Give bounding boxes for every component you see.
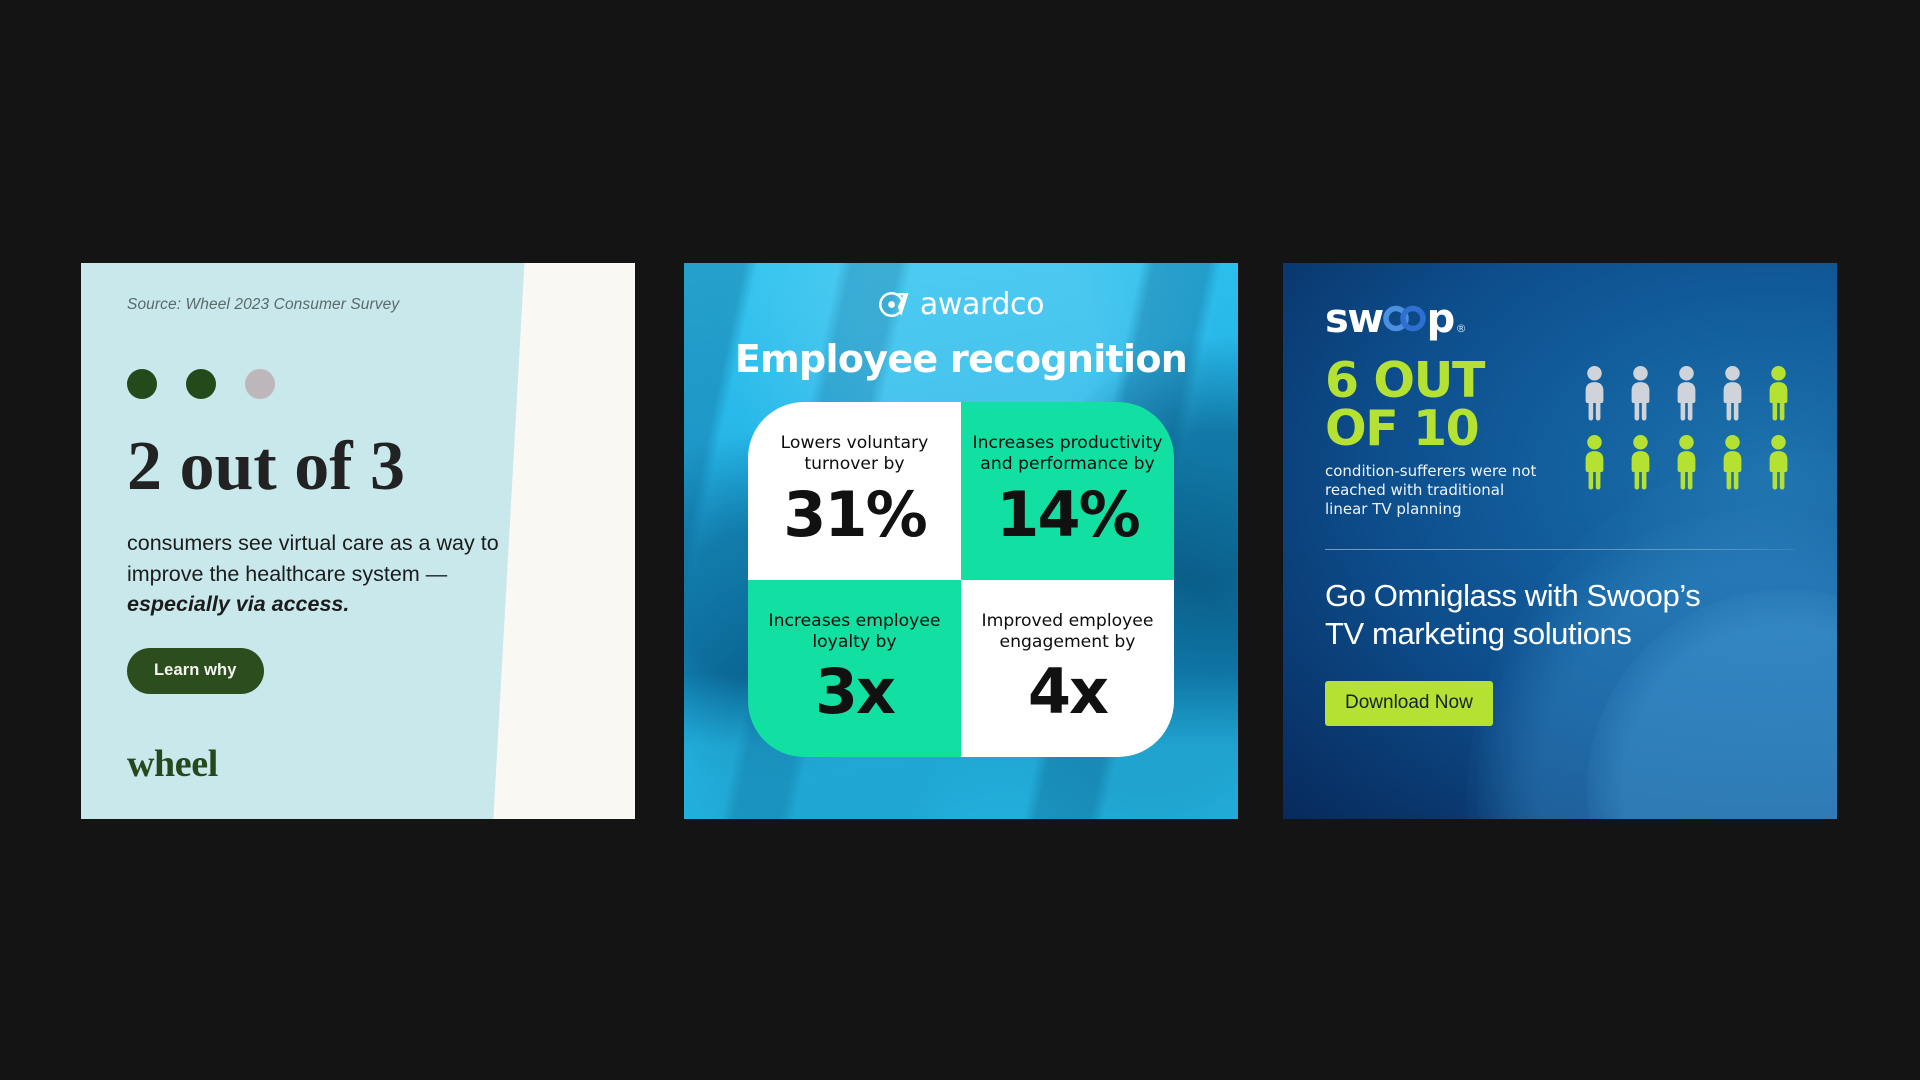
stat-value: 4x: [1028, 661, 1107, 723]
swoop-content: sw p ® 6 OUT OF 10 condition-sufferers w…: [1283, 263, 1837, 819]
stat-label: Improved employee engagement by: [971, 611, 1164, 653]
swoop-loop-icon: [1383, 302, 1427, 332]
subtext-line-2: reached with traditional: [1325, 481, 1504, 499]
dot-filled-2: [186, 369, 216, 399]
person-icon-gray: [1716, 365, 1749, 421]
stat-line-1: 6 OUT: [1325, 357, 1570, 405]
divider: [1325, 549, 1795, 550]
dot-empty-3: [245, 369, 275, 399]
stat-cell-productivity: Increases productivity and performance b…: [961, 402, 1174, 580]
headline-stat: 2 out of 3: [127, 432, 595, 502]
headline-line-2: TV marketing solutions: [1325, 616, 1632, 651]
stat-value: 3x: [815, 661, 894, 723]
swoop-headline: Go Omniglass with Swoop’s TV marketing s…: [1325, 577, 1795, 653]
card-swoop: sw p ® 6 OUT OF 10 condition-sufferers w…: [1283, 263, 1837, 819]
person-icon-green: [1624, 434, 1657, 490]
person-icon-green: [1670, 434, 1703, 490]
swoop-logo: sw p ®: [1325, 296, 1795, 340]
pictograph-row-2: [1570, 434, 1795, 490]
stat-label: Increases employee loyalty by: [758, 611, 951, 653]
stat-label: Increases productivity and performance b…: [971, 433, 1164, 475]
stat-subtext: condition-sufferers were not reached wit…: [1325, 462, 1570, 519]
stat-value: 14%: [996, 484, 1138, 546]
stat-value: 31%: [783, 484, 925, 546]
awardco-title: Employee recognition: [684, 337, 1238, 381]
person-icon-gray: [1670, 365, 1703, 421]
card-awardco: awardco Employee recognition Lowers volu…: [684, 263, 1238, 819]
person-icon-green: [1716, 434, 1749, 490]
person-icon-gray: [1578, 365, 1611, 421]
stat-cell-engagement: Improved employee engagement by 4x: [961, 580, 1174, 758]
stat-line-2: OF 10: [1325, 405, 1570, 453]
subtext-line-1: condition-sufferers were not: [1325, 462, 1536, 480]
body-copy: consumers see virtual care as a way to i…: [127, 528, 507, 620]
person-icon-green: [1578, 434, 1611, 490]
person-icon-gray: [1624, 365, 1657, 421]
swoop-logo-first: sw: [1325, 296, 1383, 342]
swoop-logo-last: p: [1427, 296, 1454, 342]
awardco-logo: awardco: [684, 285, 1238, 323]
stat-label: Lowers voluntary turnover by: [758, 433, 951, 475]
pictograph: [1570, 357, 1795, 519]
awardco-logo-text: awardco: [920, 287, 1044, 322]
body-line-1: consumers see virtual care as a way: [127, 531, 475, 555]
source-caption: Source: Wheel 2023 Consumer Survey: [127, 296, 595, 314]
person-icon-green: [1762, 434, 1795, 490]
stat-cell-turnover: Lowers voluntary turnover by 31%: [748, 402, 961, 580]
swoop-hero: 6 OUT OF 10 condition-sufferers were not…: [1325, 357, 1795, 519]
person-icon-green: [1762, 365, 1795, 421]
awardco-mark-icon: [878, 288, 911, 321]
wheel-content: Source: Wheel 2023 Consumer Survey 2 out…: [81, 263, 635, 819]
card-wheel: Source: Wheel 2023 Consumer Survey 2 out…: [81, 263, 635, 819]
registered-trademark-icon: ®: [1456, 322, 1465, 335]
swoop-stat-block: 6 OUT OF 10 condition-sufferers were not…: [1325, 357, 1570, 519]
progress-dots: [127, 369, 595, 399]
dot-filled-1: [127, 369, 157, 399]
pictograph-row-1: [1570, 365, 1795, 421]
subtext-line-3: linear TV planning: [1325, 500, 1461, 518]
stat-cell-loyalty: Increases employee loyalty by 3x: [748, 580, 961, 758]
canvas: Source: Wheel 2023 Consumer Survey 2 out…: [0, 0, 1920, 1080]
download-now-button[interactable]: Download Now: [1325, 681, 1493, 726]
headline-line-1: Go Omniglass with Swoop’s: [1325, 578, 1700, 613]
learn-why-button[interactable]: Learn why: [127, 648, 264, 694]
body-emphasis: especially via access.: [127, 589, 507, 620]
awardco-content: awardco Employee recognition Lowers volu…: [684, 263, 1238, 819]
stats-grid: Lowers voluntary turnover by 31% Increas…: [748, 402, 1174, 757]
